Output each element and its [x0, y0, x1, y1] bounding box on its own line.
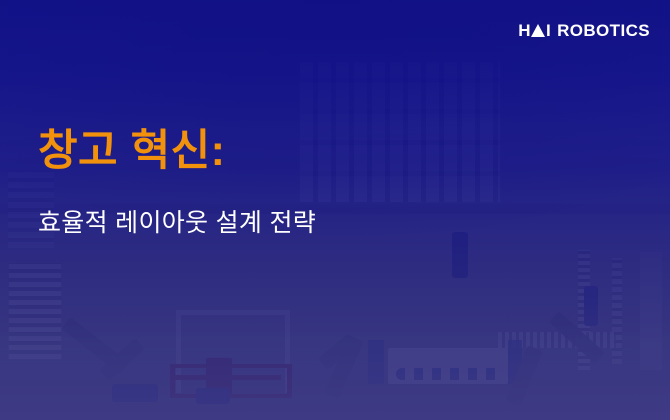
logo-letter-h: H: [518, 22, 531, 39]
triangle-a-icon: [531, 24, 545, 37]
brand-logo: H I ROBOTICS: [518, 22, 650, 39]
logo-wordmark: ROBOTICS: [557, 22, 650, 39]
title-slide: H I ROBOTICS 창고 혁신: 효율적 레이아웃 설계 전략: [0, 0, 670, 420]
logo-letter-i: I: [546, 22, 551, 39]
page-title: 창고 혁신:: [38, 126, 226, 177]
page-subtitle: 효율적 레이아웃 설계 전략: [38, 207, 316, 240]
slide-content: H I ROBOTICS 창고 혁신: 효율적 레이아웃 설계 전략: [0, 0, 670, 420]
